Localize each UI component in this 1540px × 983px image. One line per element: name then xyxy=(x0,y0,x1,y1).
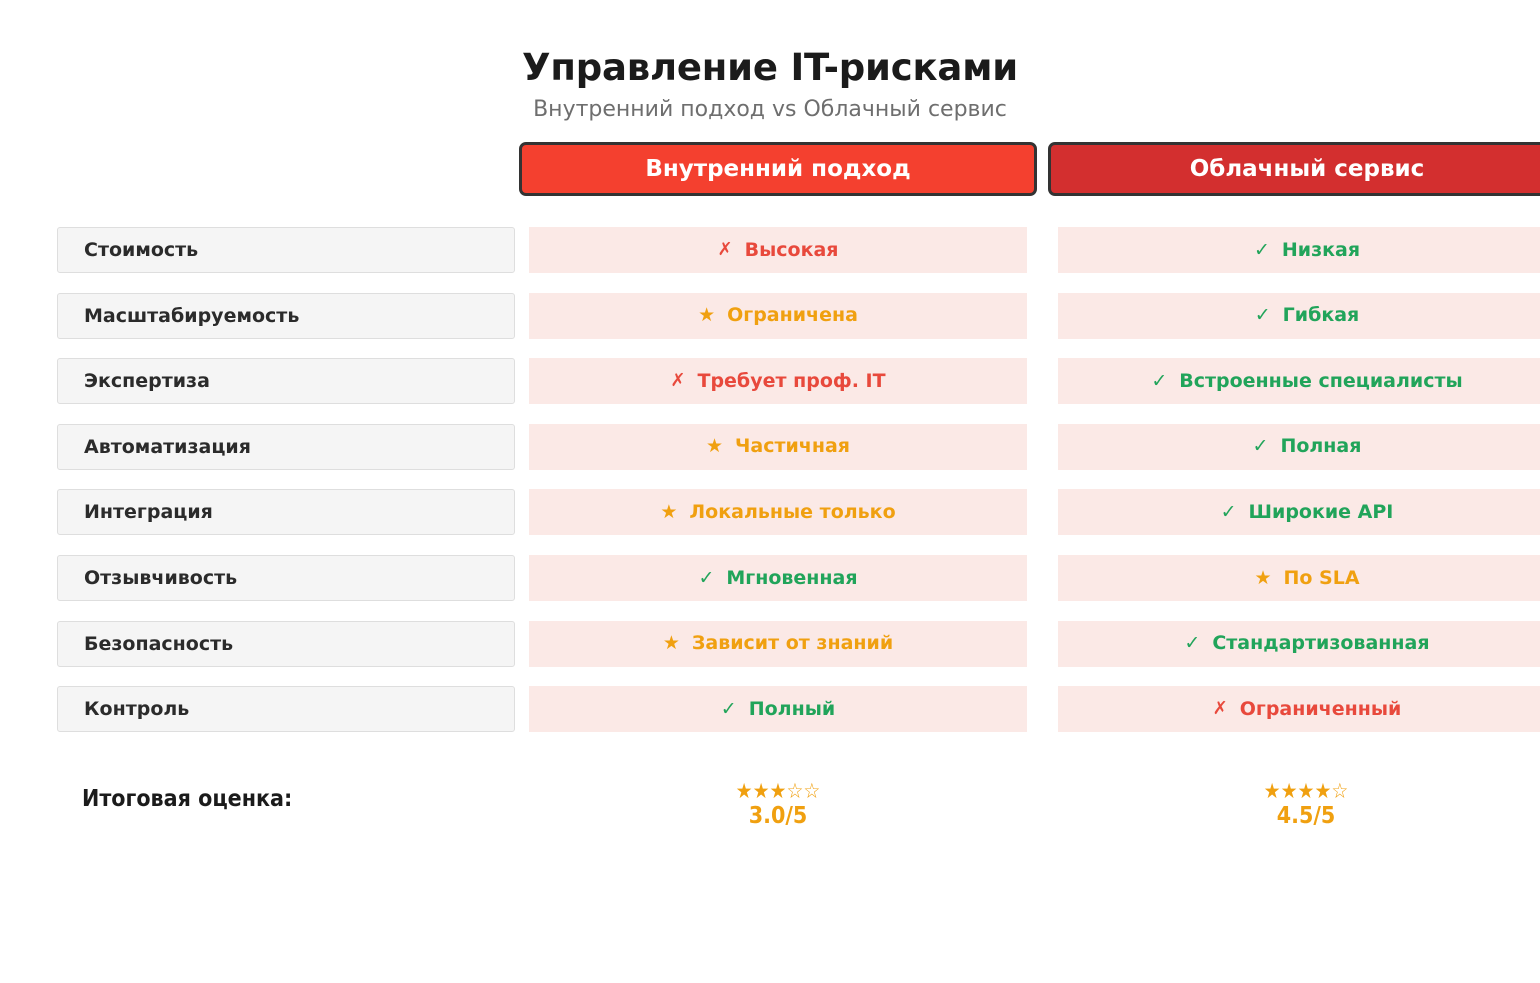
feature-label: Автоматизация xyxy=(57,424,515,470)
check-icon: ✓ xyxy=(1221,503,1237,522)
rating-score: 4.5/5 xyxy=(1186,802,1426,830)
feature-label: Безопасность xyxy=(57,621,515,667)
value-text: Стандартизованная xyxy=(1212,634,1429,653)
star-icon: ★ xyxy=(1254,569,1271,588)
star-icon: ★ xyxy=(663,634,680,653)
value-cell: ✓Полный xyxy=(529,686,1027,732)
value-text: Ограниченный xyxy=(1240,700,1402,719)
value-text: Ограничена xyxy=(727,306,858,325)
check-icon: ✓ xyxy=(721,700,737,719)
table-row: Отзывчивость✓Мгновенная★По SLA xyxy=(0,555,1540,601)
value-cell: ✗Высокая xyxy=(529,227,1027,273)
feature-label: Отзывчивость xyxy=(57,555,515,601)
page-title: Управление IT-рисками xyxy=(0,46,1540,90)
value-cell: ★Локальные только xyxy=(529,489,1027,535)
column-header-cloud[interactable]: Облачный сервис xyxy=(1048,142,1540,196)
table-row: Автоматизация★Частичная✓Полная xyxy=(0,424,1540,470)
value-cell: ✓Широкие API xyxy=(1058,489,1540,535)
star-icon: ★ xyxy=(706,437,723,456)
rating-score: 3.0/5 xyxy=(658,802,898,830)
value-text: Зависит от знаний xyxy=(692,634,893,653)
value-cell: ★По SLA xyxy=(1058,555,1540,601)
table-row: Интеграция★Локальные только✓Широкие API xyxy=(0,489,1540,535)
feature-label: Экспертиза xyxy=(57,358,515,404)
check-icon: ✓ xyxy=(1254,241,1270,260)
feature-label: Стоимость xyxy=(57,227,515,273)
value-cell: ✓Стандартизованная xyxy=(1058,621,1540,667)
rating-stars: ★★★☆☆ xyxy=(658,780,898,802)
check-icon: ✓ xyxy=(698,569,714,588)
table-row: Контроль✓Полный✗Ограниченный xyxy=(0,686,1540,732)
table-row: Масштабируемость★Ограничена✓Гибкая xyxy=(0,293,1540,339)
star-icon: ★ xyxy=(660,503,677,522)
final-rating-internal: ★★★☆☆ 3.0/5 xyxy=(658,780,898,830)
value-text: Полный xyxy=(749,700,836,719)
column-header-internal[interactable]: Внутренний подход xyxy=(519,142,1037,196)
check-icon: ✓ xyxy=(1253,437,1269,456)
value-cell: ✗Требует проф. IT xyxy=(529,358,1027,404)
comparison-table-page: Управление IT-рисками Внутренний подход … xyxy=(0,0,1540,983)
final-score-label: Итоговая оценка: xyxy=(82,786,292,812)
value-cell: ✓Гибкая xyxy=(1058,293,1540,339)
value-text: Низкая xyxy=(1282,241,1360,260)
value-cell: ✓Низкая xyxy=(1058,227,1540,273)
table-row: Стоимость✗Высокая✓Низкая xyxy=(0,227,1540,273)
star-icon: ★ xyxy=(698,306,715,325)
value-cell: ✓Мгновенная xyxy=(529,555,1027,601)
value-cell: ★Зависит от знаний xyxy=(529,621,1027,667)
value-text: Встроенные специалисты xyxy=(1179,372,1462,391)
value-text: Мгновенная xyxy=(726,569,857,588)
value-cell: ✓Встроенные специалисты xyxy=(1058,358,1540,404)
value-text: Высокая xyxy=(745,241,839,260)
feature-label: Масштабируемость xyxy=(57,293,515,339)
value-text: Требует проф. IT xyxy=(697,372,885,391)
check-icon: ✓ xyxy=(1255,306,1271,325)
value-text: Частичная xyxy=(735,437,850,456)
value-text: Локальные только xyxy=(689,503,895,522)
feature-label: Контроль xyxy=(57,686,515,732)
rating-stars: ★★★★☆ xyxy=(1186,780,1426,802)
value-cell: ✓Полная xyxy=(1058,424,1540,470)
value-text: Широкие API xyxy=(1249,503,1394,522)
value-cell: ★Ограничена xyxy=(529,293,1027,339)
value-text: Полная xyxy=(1280,437,1361,456)
cross-icon: ✗ xyxy=(1213,700,1228,718)
value-cell: ★Частичная xyxy=(529,424,1027,470)
check-icon: ✓ xyxy=(1151,372,1167,391)
table-row: Безопасность★Зависит от знаний✓Стандарти… xyxy=(0,621,1540,667)
table-row: Экспертиза✗Требует проф. IT✓Встроенные с… xyxy=(0,358,1540,404)
feature-label: Интеграция xyxy=(57,489,515,535)
cross-icon: ✗ xyxy=(718,241,733,259)
value-cell: ✗Ограниченный xyxy=(1058,686,1540,732)
value-text: По SLA xyxy=(1283,569,1359,588)
cross-icon: ✗ xyxy=(670,372,685,390)
value-text: Гибкая xyxy=(1283,306,1360,325)
page-subtitle: Внутренний подход vs Облачный сервис xyxy=(0,96,1540,124)
final-rating-cloud: ★★★★☆ 4.5/5 xyxy=(1186,780,1426,830)
check-icon: ✓ xyxy=(1184,634,1200,653)
